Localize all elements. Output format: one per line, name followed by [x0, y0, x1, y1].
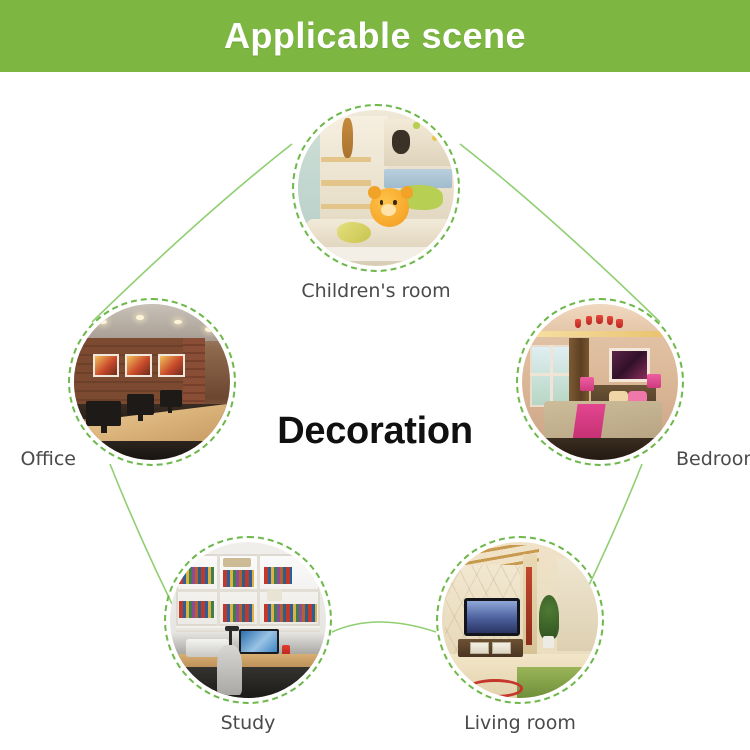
scene-circle-study	[164, 536, 332, 704]
scene-node-children-room[interactable]: Children's room	[292, 104, 460, 272]
scene-label-bedroom: Bedroom	[676, 448, 750, 470]
scene-photo-living-room	[442, 542, 598, 698]
page-title: Applicable scene	[224, 15, 526, 57]
scene-diagram: Decoration C	[0, 72, 750, 750]
scene-photo-children-room	[298, 110, 454, 266]
scene-node-bedroom[interactable]: Bedroom	[516, 298, 684, 466]
scene-node-study[interactable]: Study	[164, 536, 332, 704]
scene-photo-bedroom	[522, 304, 678, 460]
scene-photo-study	[170, 542, 326, 698]
scene-label-living-room: Living room	[464, 712, 576, 734]
scene-circle-children-room	[292, 104, 460, 272]
scene-label-office: Office	[21, 448, 76, 470]
scene-circle-office	[68, 298, 236, 466]
scene-node-living-room[interactable]: Living room	[436, 536, 604, 704]
scene-label-children-room: Children's room	[301, 280, 450, 302]
scene-label-study: Study	[221, 712, 276, 734]
scene-circle-living-room	[436, 536, 604, 704]
scene-photo-office	[74, 304, 230, 460]
header-banner: Applicable scene	[0, 0, 750, 72]
scene-node-office[interactable]: Office	[68, 298, 236, 466]
scene-circle-bedroom	[516, 298, 684, 466]
